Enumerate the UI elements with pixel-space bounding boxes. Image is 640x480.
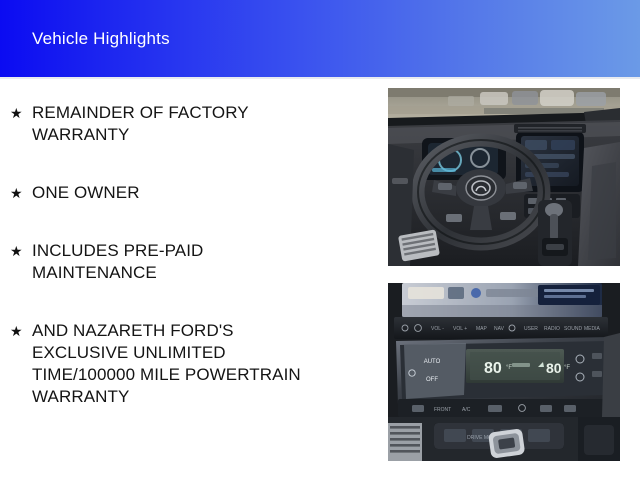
highlight-text: AND NAZARETH FORD'S EXCLUSIVE UNLIMITED … [32, 320, 366, 408]
svg-text:A/C: A/C [462, 407, 471, 413]
star-icon: ★ [10, 102, 32, 124]
svg-text:MAP: MAP [476, 326, 488, 332]
svg-text:VOL +: VOL + [453, 326, 467, 332]
svg-text:RADIO: RADIO [544, 326, 560, 332]
svg-text:MEDIA: MEDIA [584, 326, 601, 332]
svg-text:AUTO: AUTO [424, 359, 441, 365]
interior-dashboard-photo[interactable] [388, 88, 620, 266]
svg-text:NAV: NAV [494, 326, 505, 332]
list-item: ★ REMAINDER OF FACTORY WARRANTY [10, 102, 366, 146]
svg-text:OFF: OFF [426, 377, 438, 383]
highlight-text: ONE OWNER [32, 182, 366, 204]
svg-text:°F: °F [564, 365, 570, 371]
star-icon: ★ [10, 240, 32, 262]
list-item: ★ INCLUDES PRE-PAID MAINTENANCE [10, 240, 366, 284]
highlight-text: REMAINDER OF FACTORY WARRANTY [32, 102, 366, 146]
interior-dashboard-image [388, 88, 620, 266]
list-item: ★ ONE OWNER [10, 182, 366, 204]
vehicle-highlights-list: ★ REMAINDER OF FACTORY WARRANTY ★ ONE OW… [0, 88, 372, 408]
svg-text:VOL -: VOL - [431, 326, 444, 332]
page-header: Vehicle Highlights [0, 0, 640, 77]
svg-text:SOUND: SOUND [564, 326, 582, 332]
interior-climate-photo[interactable]: VOL - VOL + MAP NAV USER RADIO SOUND MED… [388, 283, 620, 461]
svg-text:80: 80 [484, 360, 502, 377]
svg-text:°F: °F [506, 365, 512, 371]
page-title: Vehicle Highlights [32, 30, 170, 47]
header-divider [0, 77, 640, 79]
star-icon: ★ [10, 320, 32, 342]
svg-text:80: 80 [546, 360, 562, 376]
star-icon: ★ [10, 182, 32, 204]
interior-climate-image: VOL - VOL + MAP NAV USER RADIO SOUND MED… [388, 283, 620, 461]
svg-text:FRONT: FRONT [434, 407, 451, 413]
list-item: ★ AND NAZARETH FORD'S EXCLUSIVE UNLIMITE… [10, 320, 366, 408]
svg-text:USER: USER [524, 326, 538, 332]
highlight-text: INCLUDES PRE-PAID MAINTENANCE [32, 240, 366, 284]
